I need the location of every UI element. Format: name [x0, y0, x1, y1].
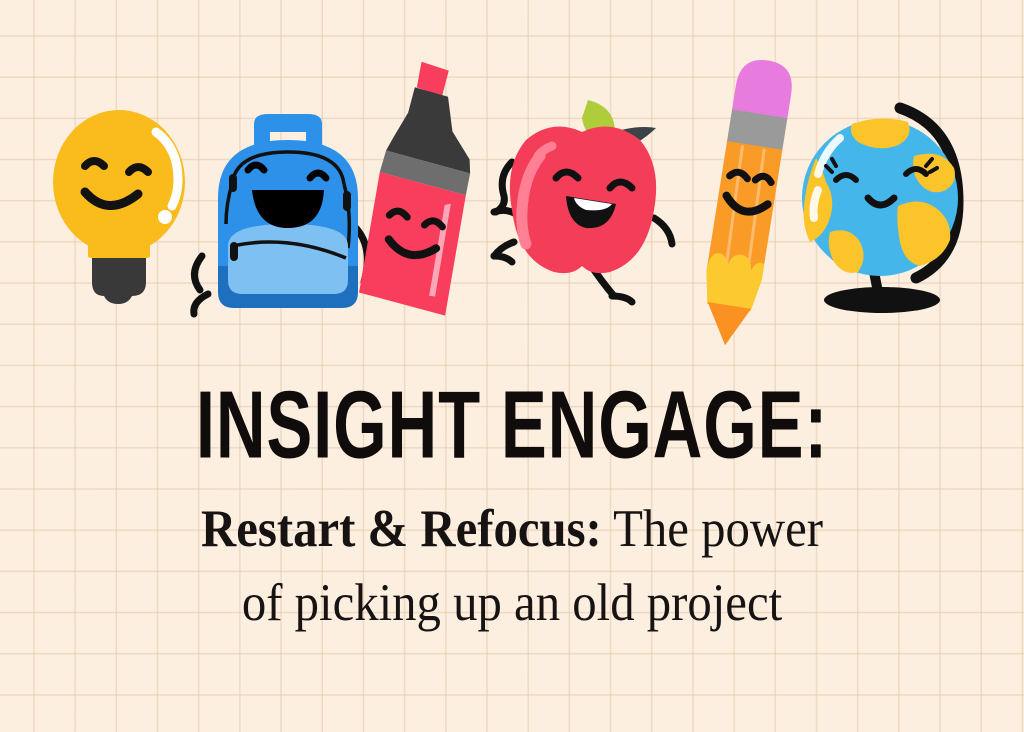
- page-title: INSIGHT ENGAGE:: [92, 356, 932, 472]
- globe-icon: [796, 86, 976, 326]
- subtitle-lead: Restart & Refocus:: [201, 500, 602, 558]
- apple-icon: [494, 84, 674, 324]
- pencil-icon: [676, 50, 806, 350]
- subtitle: Restart & Refocus: The power of picking …: [41, 458, 983, 640]
- subtitle-line-2: of picking up an old project: [41, 566, 983, 640]
- marker-icon: [366, 52, 506, 332]
- poster-canvas: INSIGHT ENGAGE: Restart & Refocus: The p…: [0, 0, 1024, 732]
- subtitle-rest: The power: [602, 500, 823, 558]
- subtitle-line-1: Restart & Refocus: The power: [41, 492, 983, 566]
- text-block: INSIGHT ENGAGE: Restart & Refocus: The p…: [0, 356, 1024, 640]
- backpack-icon: [196, 106, 381, 316]
- illustration-row: [0, 0, 1024, 360]
- lightbulb-icon: [52, 104, 202, 304]
